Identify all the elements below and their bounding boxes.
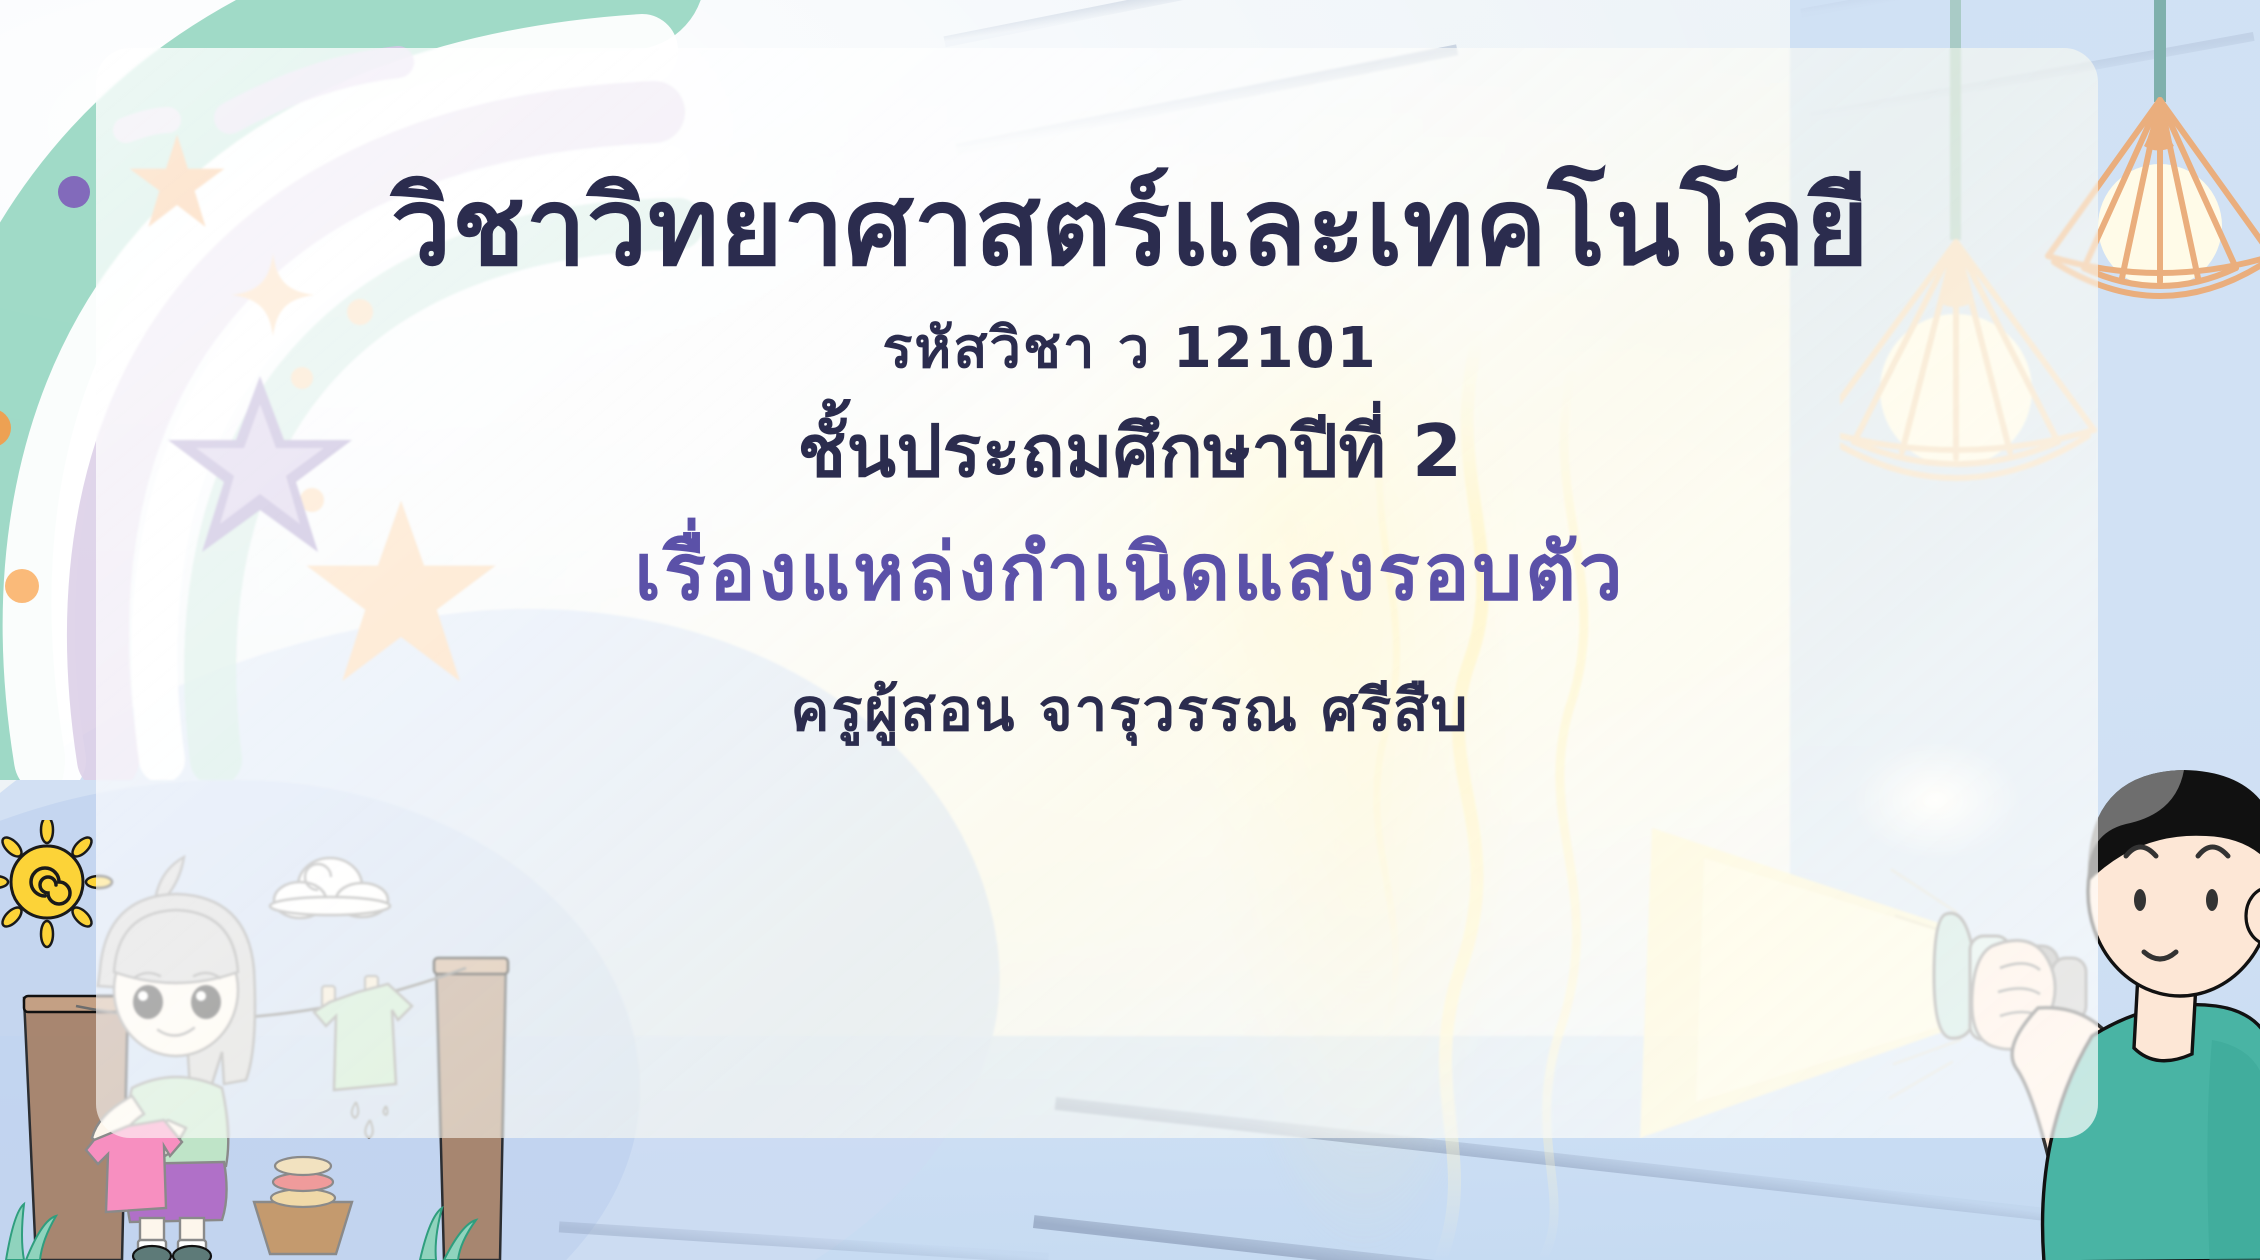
title-text-block: วิชาวิทยาศาสตร์และเทคโนโลยี รหัสวิชา ว 1… (0, 170, 2260, 742)
page-title: วิชาวิทยาศาสตร์และเทคโนโลยี (0, 170, 2260, 287)
laundry-basket (254, 1157, 352, 1254)
teacher-name-label: ครูผู้สอน จารุวรรณ ศรีสืบ (0, 679, 2260, 742)
subject-code-label: รหัสวิชา ว 12101 (0, 319, 2260, 379)
lesson-title-slide: วิชาวิทยาศาสตร์และเทคโนโลยี รหัสวิชา ว 1… (0, 0, 2260, 1260)
grade-level-label: ชั้นประถมศึกษาปีที่ 2 (0, 413, 2260, 491)
lesson-topic-label: เรื่องแหล่งกำเนิดแสงรอบตัว (0, 531, 2260, 615)
